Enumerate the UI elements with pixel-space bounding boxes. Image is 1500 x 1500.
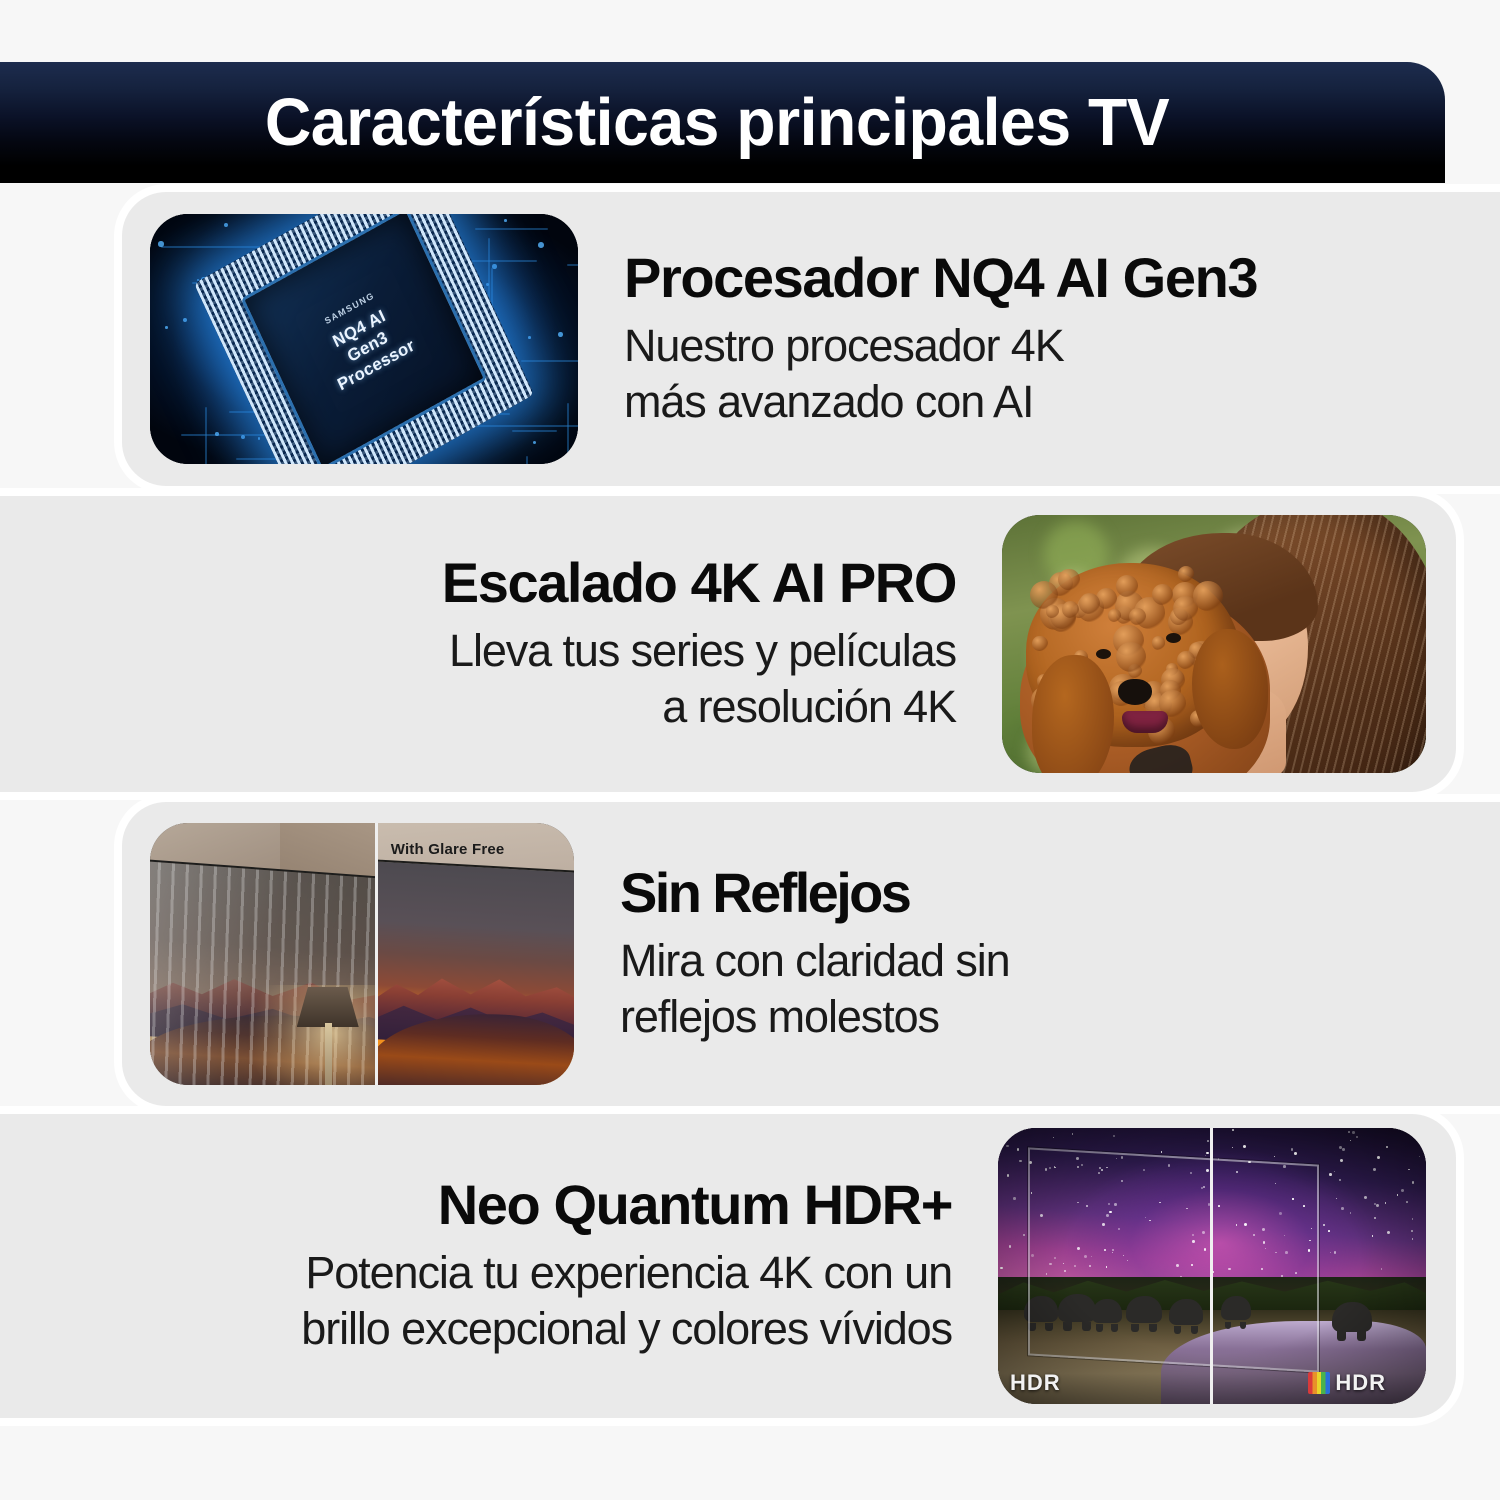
puppy-eye-left (1096, 649, 1111, 659)
feature-copy-escalado: Escalado 4K AI PRO Lleva tus series y pe… (0, 553, 1002, 735)
feature-title-sin-reflejos: Sin Reflejos (620, 863, 1500, 923)
puppy-scene-background (1002, 515, 1426, 773)
puppy-fur-curl (1116, 575, 1138, 597)
puppy-fur-curl (1032, 636, 1047, 651)
glare-half-with-reflection (150, 823, 375, 1085)
puppy-fur-curl (1046, 605, 1058, 617)
puppy-mouth (1122, 711, 1168, 733)
hdr-badge-right: HDR (1308, 1370, 1386, 1396)
color-gamut-icon (1308, 1372, 1330, 1394)
feature-desc-line-2: reflejos molestos (620, 989, 1500, 1045)
puppy-fur-curl (1129, 608, 1146, 625)
lamp-stem (325, 1023, 332, 1085)
feature-desc-line-1: Nuestro procesador 4K (624, 318, 1500, 374)
feature-description-procesador: Nuestro procesador 4K más avanzado con A… (624, 318, 1500, 430)
feature-desc-line-1: Potencia tu experiencia 4K con un (0, 1245, 952, 1301)
feature-copy-neo-quantum-hdr: Neo Quantum HDR+ Potencia tu experiencia… (0, 1175, 998, 1357)
feature-copy-procesador: Procesador NQ4 AI Gen3 Nuestro procesado… (578, 248, 1500, 430)
girl-with-puppy-image (1002, 515, 1426, 773)
puppy-ear-left (1032, 655, 1114, 773)
puppy-fur-curl (1193, 581, 1223, 611)
chip-scene-background: SAMSUNG NQ4 AI Gen3 Processor (150, 214, 578, 464)
hdr-label-left: HDR (1010, 1370, 1061, 1396)
feature-card-sin-reflejos: With Glare Free Sin Reflejos Mira con cl… (122, 802, 1500, 1106)
hdr-badge-left: HDR (1010, 1370, 1061, 1396)
feature-description-neo-quantum-hdr: Potencia tu experiencia 4K con un brillo… (0, 1245, 952, 1357)
feature-desc-line-2: brillo excepcional y colores vívidos (0, 1301, 952, 1357)
puppy-fur-curl (1079, 593, 1100, 614)
hdr-label-right: HDR (1335, 1370, 1386, 1396)
feature-title-escalado: Escalado 4K AI PRO (0, 553, 956, 613)
puppy-nose (1118, 679, 1152, 705)
feature-card-neo-quantum-hdr: Neo Quantum HDR+ Potencia tu experiencia… (0, 1114, 1456, 1418)
page-header-band: Características principales TV (0, 62, 1445, 183)
page-title: Características principales TV (265, 84, 1169, 161)
puppy-fur-curl (1116, 642, 1146, 672)
feature-desc-line-2: a resolución 4K (0, 679, 956, 735)
puppy-fur-curl (1152, 636, 1165, 649)
processor-chip-image: SAMSUNG NQ4 AI Gen3 Processor (150, 214, 578, 464)
feature-title-neo-quantum-hdr: Neo Quantum HDR+ (0, 1175, 952, 1235)
feature-card-procesador: SAMSUNG NQ4 AI Gen3 Processor Procesador… (122, 192, 1500, 486)
puppy-eye-right (1166, 633, 1181, 643)
hdr-elephants-comparison-image: HDR HDR (998, 1128, 1426, 1404)
glare-half-glare-free: With Glare Free (375, 823, 574, 1085)
feature-desc-line-2: más avanzado con AI (624, 374, 1500, 430)
glare-free-label: With Glare Free (391, 841, 505, 858)
hdr-comparison-scene: HDR HDR (998, 1128, 1426, 1404)
puppy-fur-curl (1058, 569, 1080, 591)
feature-description-sin-reflejos: Mira con claridad sin reflejos molestos (620, 933, 1500, 1045)
feature-desc-line-1: Mira con claridad sin (620, 933, 1500, 989)
comparison-split-line (1210, 1128, 1213, 1404)
feature-title-procesador: Procesador NQ4 AI Gen3 (624, 248, 1500, 308)
feature-copy-sin-reflejos: Sin Reflejos Mira con claridad sin refle… (574, 863, 1500, 1045)
glare-free-comparison-image: With Glare Free (150, 823, 574, 1085)
puppy-fur-curl (1152, 584, 1173, 605)
feature-card-escalado: Escalado 4K AI PRO Lleva tus series y pe… (0, 496, 1456, 792)
puppy-head (1026, 563, 1240, 747)
tv-screen-glare-free (375, 859, 574, 1085)
puppy-fur-curl (1177, 651, 1195, 669)
glare-comparison-scene: With Glare Free (150, 823, 574, 1085)
feature-desc-line-1: Lleva tus series y películas (0, 623, 956, 679)
feature-description-escalado: Lleva tus series y películas a resolució… (0, 623, 956, 735)
puppy-fur-curl (1178, 566, 1194, 582)
chip-body: SAMSUNG NQ4 AI Gen3 Processor (222, 214, 505, 464)
comparison-split-line (375, 823, 378, 1085)
